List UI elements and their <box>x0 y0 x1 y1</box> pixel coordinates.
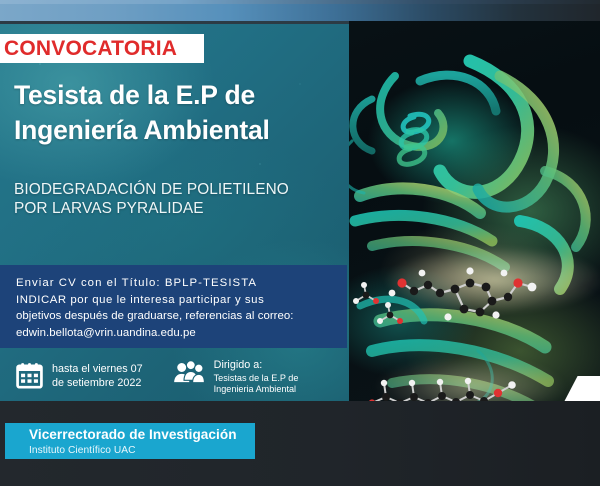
cv-instructions-block: Enviar CV con el Título: BPLP-TESISTA IN… <box>0 265 347 348</box>
deadline-text: hasta el viernes 07 de setiembre 2022 <box>52 362 143 391</box>
top-gradient-strip <box>0 0 600 21</box>
poster-canvas: CONVOCATORIA Tesista de la E.P de Ingeni… <box>0 0 600 486</box>
info-row: hasta el viernes 07 de setiembre 2022 Di… <box>0 355 349 400</box>
footer-subtitle: Instituto Científico UAC <box>29 444 255 457</box>
deadline-info: hasta el viernes 07 de setiembre 2022 <box>16 362 143 394</box>
cv-line-1: Enviar CV con el Título: BPLP-TESISTA <box>16 275 337 292</box>
convocatoria-banner: CONVOCATORIA <box>0 34 204 63</box>
audience-line-1: Tesistas de la E.P de <box>214 373 299 385</box>
audience-text: Dirigido a: Tesistas de la E.P de Ingeni… <box>214 359 299 396</box>
subtitle-line-2: POR LARVAS PYRALIDAE <box>14 199 349 218</box>
cv-email[interactable]: edwin.bellota@vrin.uandina.edu.pe <box>16 325 337 342</box>
cv-line-2: INDICAR por que le interesa participar y… <box>16 292 337 309</box>
headline-line-1: Tesista de la E.P de <box>14 78 344 113</box>
headline-line-2: Ingeniería Ambiental <box>14 113 344 148</box>
audience-info: Dirigido a: Tesistas de la E.P de Ingeni… <box>172 359 299 396</box>
audience-title: Dirigido a: <box>214 359 299 373</box>
people-icon <box>172 359 205 389</box>
cv-line-3: objetivos después de graduarse, referenc… <box>16 308 337 325</box>
footer-band: Vicerrectorado de Investigación Institut… <box>5 423 255 459</box>
audience-line-2: Ingenieria Ambiental <box>214 384 299 396</box>
convocatoria-label: CONVOCATORIA <box>4 37 177 61</box>
subtitle-line-1: BIODEGRADACIÓN DE POLIETILENO <box>14 180 349 199</box>
top-strip-highlight <box>0 0 600 4</box>
subtitle: BIODEGRADACIÓN DE POLIETILENO POR LARVAS… <box>14 180 349 219</box>
page-title: Tesista de la E.P de Ingeniería Ambienta… <box>14 78 344 148</box>
deadline-line-1: hasta el viernes 07 <box>52 362 143 376</box>
deadline-line-2: de setiembre 2022 <box>52 376 143 390</box>
calendar-icon <box>16 362 43 394</box>
footer-title: Vicerrectorado de Investigación <box>29 427 255 444</box>
